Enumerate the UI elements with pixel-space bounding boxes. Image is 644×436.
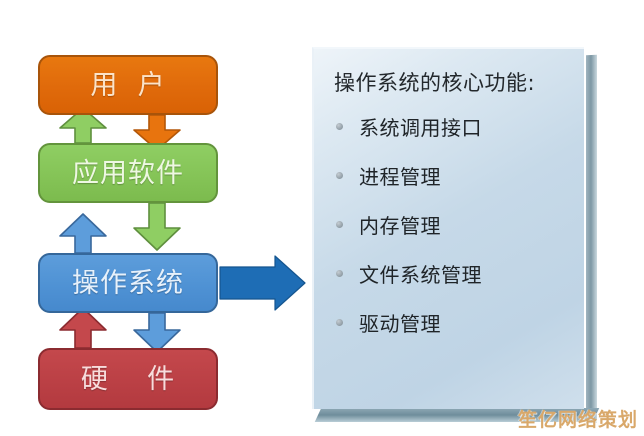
layer-label-application-software: 应用软件	[72, 160, 184, 187]
core-functions-panel: 操作系统的核心功能: 系统调用接口 进程管理 内存管理	[312, 47, 597, 422]
list-item-label: 进程管理	[359, 161, 441, 190]
layer-box-hardware[interactable]: 硬 件	[38, 348, 218, 410]
layer-label-hardware: 硬 件	[81, 366, 175, 393]
bullet-dot-icon	[336, 123, 343, 130]
list-item-label: 系统调用接口	[359, 112, 482, 141]
panel-content: 操作系统的核心功能: 系统调用接口 进程管理 内存管理	[328, 63, 578, 401]
list-item[interactable]: 内存管理	[328, 210, 578, 239]
list-item-label: 内存管理	[359, 210, 441, 239]
panel-title: 操作系统的核心功能:	[334, 71, 578, 96]
list-item-label: 文件系统管理	[359, 259, 482, 288]
list-item-label: 驱动管理	[359, 308, 441, 337]
layer-box-user[interactable]: 用 户	[38, 55, 218, 115]
list-item[interactable]: 进程管理	[328, 161, 578, 190]
bullet-dot-icon	[336, 221, 343, 228]
panel-right-bevel	[586, 55, 597, 424]
list-item[interactable]: 文件系统管理	[328, 259, 578, 288]
layer-label-operating-system: 操作系统	[72, 270, 184, 297]
arrow-os-to-panel-icon	[220, 256, 305, 310]
core-functions-list: 系统调用接口 进程管理 内存管理 文件系统管理	[328, 112, 578, 357]
arrow-os-to-app-icon	[60, 214, 106, 253]
arrow-os-to-hw-icon	[134, 313, 180, 352]
list-item[interactable]: 系统调用接口	[328, 112, 578, 141]
panel-face: 操作系统的核心功能: 系统调用接口 进程管理 内存管理	[312, 47, 584, 409]
arrow-app-to-os-icon	[134, 203, 180, 250]
bullet-dot-icon	[336, 172, 343, 179]
layer-box-application-software[interactable]: 应用软件	[38, 143, 218, 203]
diagram-canvas: 用 户 应用软件 操作系统 硬 件 操作系统的核心功能: 系统调用接口	[0, 0, 644, 436]
watermark: 笙亿网络策划	[518, 405, 638, 432]
list-item[interactable]: 驱动管理	[328, 308, 578, 337]
bullet-dot-icon	[336, 319, 343, 326]
watermark-text: 笙亿网络策划	[518, 405, 638, 432]
bullet-dot-icon	[336, 270, 343, 277]
layer-label-user: 用 户	[90, 72, 165, 99]
arrow-hw-to-os-icon	[60, 308, 106, 348]
layer-box-operating-system[interactable]: 操作系统	[38, 253, 218, 313]
